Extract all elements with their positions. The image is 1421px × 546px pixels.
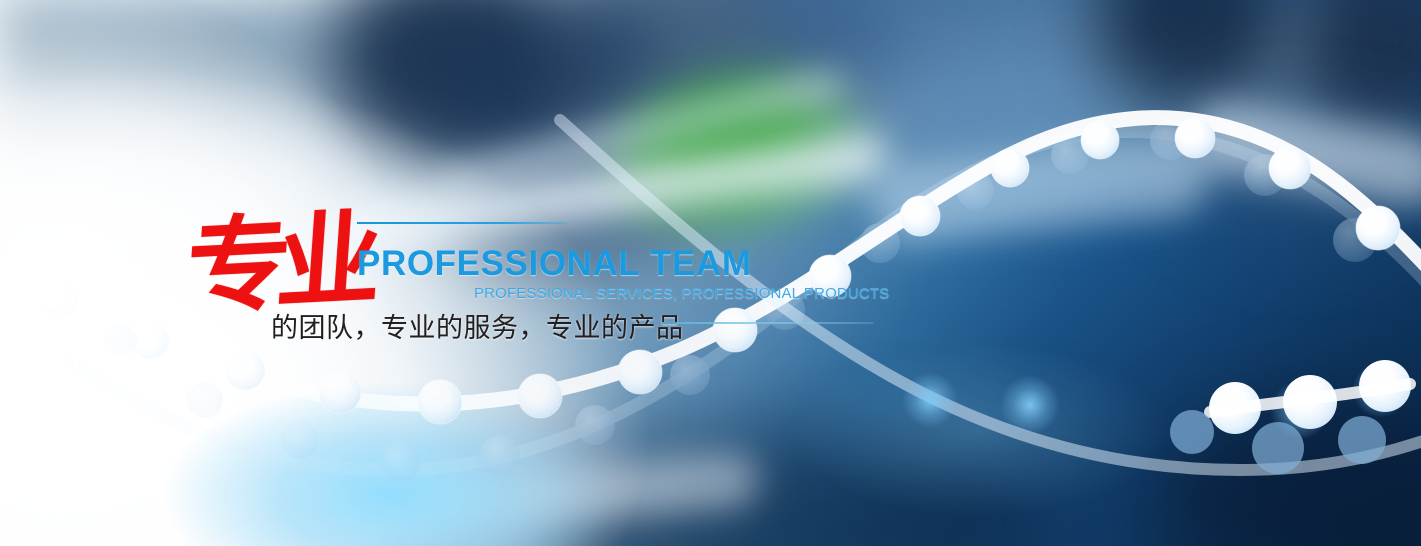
page-subtitle: PROFESSIONAL SERVICES, PROFESSIONAL PROD… (474, 285, 889, 302)
chinese-tagline: 的团队，专业的服务，专业的产品 (271, 306, 684, 345)
bottom-accent-rule (662, 322, 873, 324)
banner-copy: 专业 PROFESSIONAL TEAM PROFESSIONAL SERVIC… (0, 0, 1421, 546)
hero-banner: 专业 PROFESSIONAL TEAM PROFESSIONAL SERVIC… (0, 0, 1421, 546)
top-accent-rule (357, 222, 567, 224)
page-title: PROFESSIONAL TEAM (357, 244, 752, 284)
